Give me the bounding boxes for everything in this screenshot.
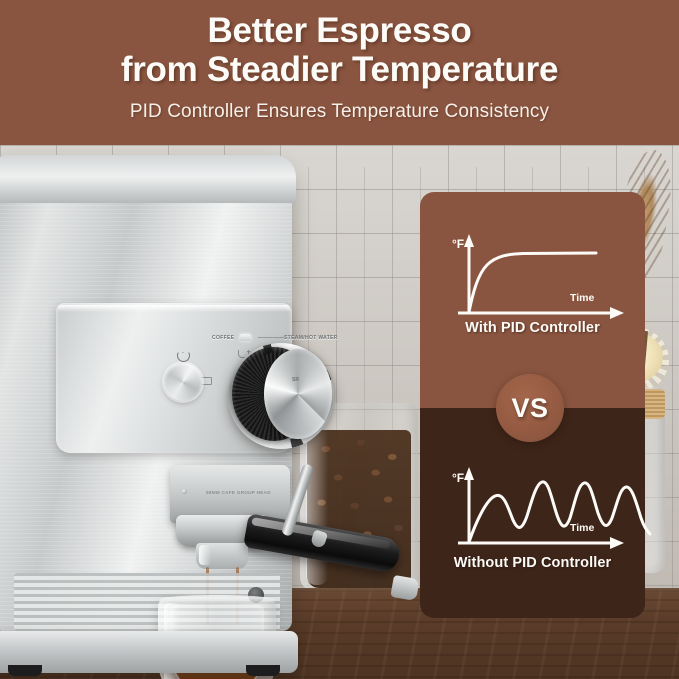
page-subtitle: PID Controller Ensures Temperature Consi… <box>0 101 679 123</box>
knob-side-label: SR <box>292 377 299 383</box>
y-axis-arrow <box>464 234 474 247</box>
x-axis-label: Time <box>570 522 594 534</box>
chart-with-pid: °F Time <box>0 200 679 340</box>
x-axis-label: Time <box>570 292 594 304</box>
x-axis-arrow <box>610 537 624 549</box>
machine-foot <box>246 665 280 676</box>
power-button[interactable] <box>164 363 202 401</box>
machine-foot <box>8 665 42 676</box>
x-axis-arrow <box>610 307 624 319</box>
product-marketing-image: COFFEE STEAM/HOT WATER SR 58MM CAFE GROU… <box>0 0 679 679</box>
vs-badge: VS <box>496 374 564 442</box>
no-pid-temperature-curve <box>469 482 650 542</box>
vs-label: VS <box>496 374 564 442</box>
y-axis-label: °F <box>452 237 464 251</box>
y-axis-arrow <box>464 467 474 480</box>
header-banner: Better Espresso from Steadier Temperatur… <box>0 0 679 145</box>
machine-top-deck <box>0 155 296 203</box>
y-axis-label: °F <box>452 471 464 485</box>
caption-without-pid: Without PID Controller <box>420 555 645 571</box>
page-title: Better Espresso from Steadier Temperatur… <box>0 11 679 89</box>
control-knob-face[interactable] <box>264 349 332 439</box>
caption-with-pid: With PID Controller <box>420 320 645 336</box>
